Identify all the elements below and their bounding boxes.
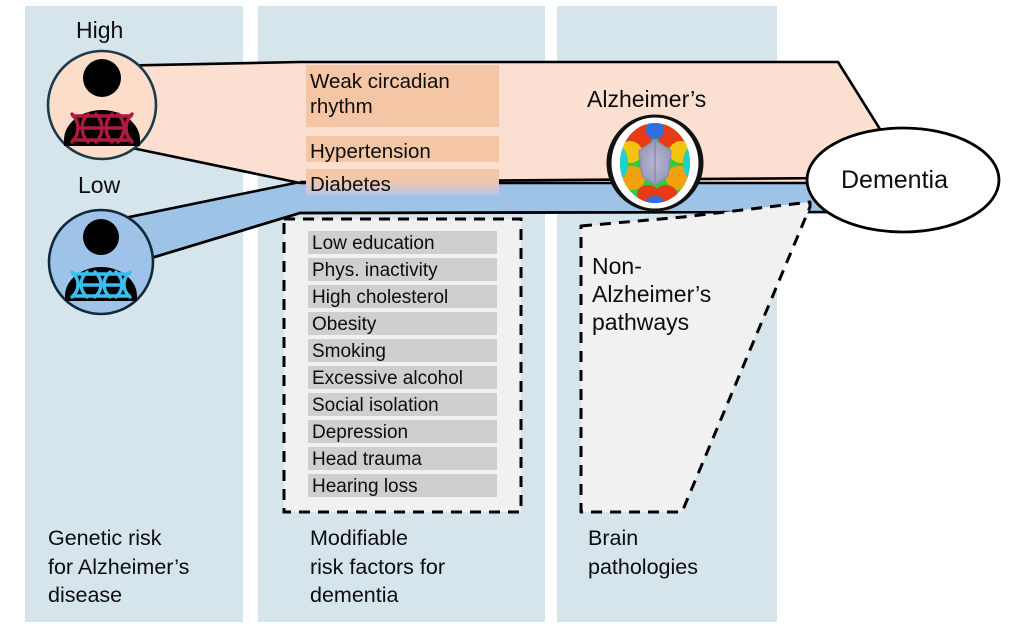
brain-pet-scan-icon xyxy=(608,116,702,212)
genetic-risk-high-icon xyxy=(48,51,156,159)
high-risk-flow-ribbon xyxy=(108,62,893,183)
genetic-risk-high-label: High xyxy=(76,16,123,44)
non-alzheimers-pathways-label: Non- Alzheimer’s pathways xyxy=(592,252,711,336)
modifiable-risk-factor-item: Depression xyxy=(312,421,408,444)
modifiable-risk-factor-item: Smoking xyxy=(312,340,386,363)
modifiable-risk-factor-item: Social isolation xyxy=(312,394,439,417)
person-head-icon xyxy=(83,59,121,97)
diagram-canvas: High Low Weak circadian rhythm Hypertens… xyxy=(0,0,1024,635)
modifiable-risk-factor-item: High cholesterol xyxy=(312,286,448,309)
dementia-label: Dementia xyxy=(841,165,948,196)
modifiable-risk-factor-item: Phys. inactivity xyxy=(312,259,438,282)
person-head-icon xyxy=(83,219,119,255)
modifiable-risk-factor-item: Obesity xyxy=(312,313,376,336)
column-caption-pathology: Brain pathologies xyxy=(588,524,698,581)
alzheimers-label: Alzheimer’s xyxy=(587,85,706,113)
modifiable-risk-factor-item: Head trauma xyxy=(312,448,422,471)
genetic-risk-low-label: Low xyxy=(78,171,120,199)
column-caption-modifiable: Modifiable risk factors for dementia xyxy=(310,524,445,610)
upper-risk-factor-hypertension: Hypertension xyxy=(310,139,431,164)
upper-risk-factor-weak-circadian-rhythm: Weak circadian rhythm xyxy=(310,69,450,119)
genetic-risk-low-icon xyxy=(49,210,153,314)
modifiable-risk-factor-item: Excessive alcohol xyxy=(312,367,463,390)
column-caption-genetic: Genetic risk for Alzheimer’s disease xyxy=(48,524,189,610)
upper-risk-factor-diabetes: Diabetes xyxy=(310,172,391,197)
modifiable-risk-factor-item: Low education xyxy=(312,232,435,255)
modifiable-risk-factor-item: Hearing loss xyxy=(312,475,418,498)
